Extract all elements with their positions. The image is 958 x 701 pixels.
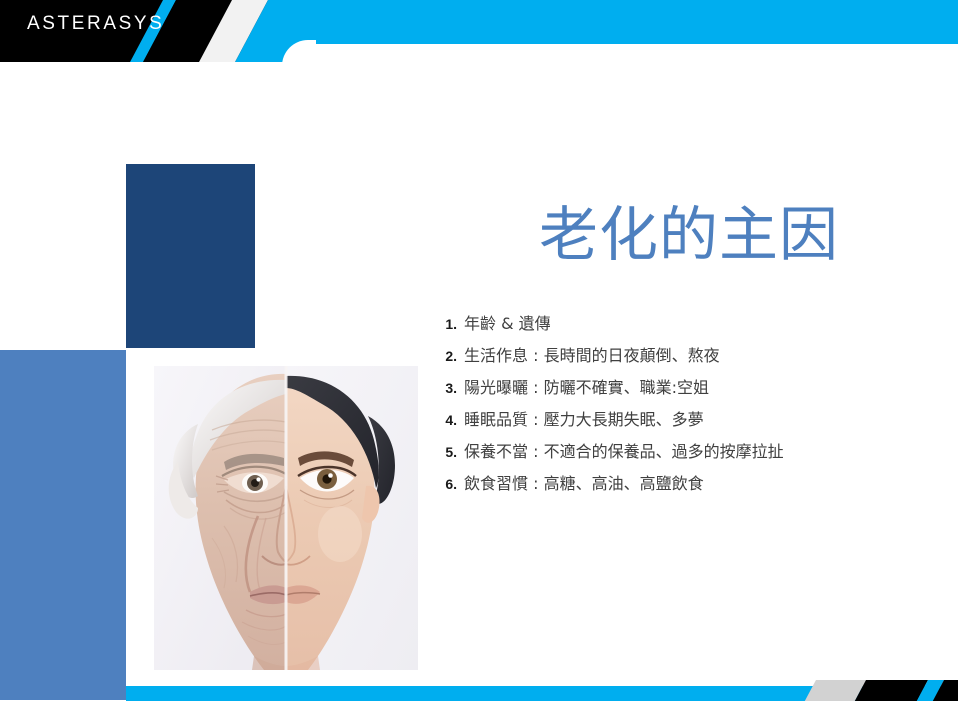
list-item: 4. 睡眠品質 : 壓力大長期失眠、多夢	[437, 410, 907, 430]
slide-title: 老化的主因	[433, 203, 839, 268]
footer-blue-tail	[0, 672, 126, 700]
list-item-number: 2.	[437, 348, 457, 364]
list-item-label: 飲食習慣 : 高糖、高油、高鹽飲食	[464, 474, 704, 494]
aging-comparison-photo	[154, 366, 418, 670]
list-item: 1. 年齡 & 遺傳	[437, 314, 907, 334]
list-item-label: 陽光曝曬 : 防曬不確實、職業:空姐	[464, 378, 709, 398]
asterasys-logo: ASTERASYS	[27, 13, 164, 35]
list-item-number: 4.	[437, 412, 457, 428]
list-item-label: 保養不當 : 不適合的保養品、過多的按摩拉扯	[464, 442, 784, 462]
list-item: 3. 陽光曝曬 : 防曬不確實、職業:空姐	[437, 378, 907, 398]
list-item-number: 1.	[437, 316, 457, 332]
decor-navy-rectangle	[126, 164, 255, 348]
causes-list: 1. 年齡 & 遺傳 2. 生活作息 : 長時間的日夜顛倒、熬夜 3. 陽光曝曬…	[437, 314, 907, 506]
header-cyan-band	[268, 0, 958, 44]
list-item-number: 3.	[437, 380, 457, 396]
slide-footer	[0, 672, 958, 701]
list-item-label: 生活作息 : 長時間的日夜顛倒、熬夜	[464, 346, 720, 366]
decor-blue-rectangle	[0, 350, 126, 700]
slide-header: ASTERASYS	[0, 0, 958, 62]
list-item-label: 年齡 & 遺傳	[464, 314, 551, 334]
list-item-label: 睡眠品質 : 壓力大長期失眠、多夢	[464, 410, 704, 430]
list-item: 6. 飲食習慣 : 高糖、高油、高鹽飲食	[437, 474, 907, 494]
slide-canvas: ASTERASYS	[0, 0, 958, 701]
list-item: 2. 生活作息 : 長時間的日夜顛倒、熬夜	[437, 346, 907, 366]
list-item-number: 5.	[437, 444, 457, 460]
list-item: 5. 保養不當 : 不適合的保養品、過多的按摩拉扯	[437, 442, 907, 462]
list-item-number: 6.	[437, 476, 457, 492]
